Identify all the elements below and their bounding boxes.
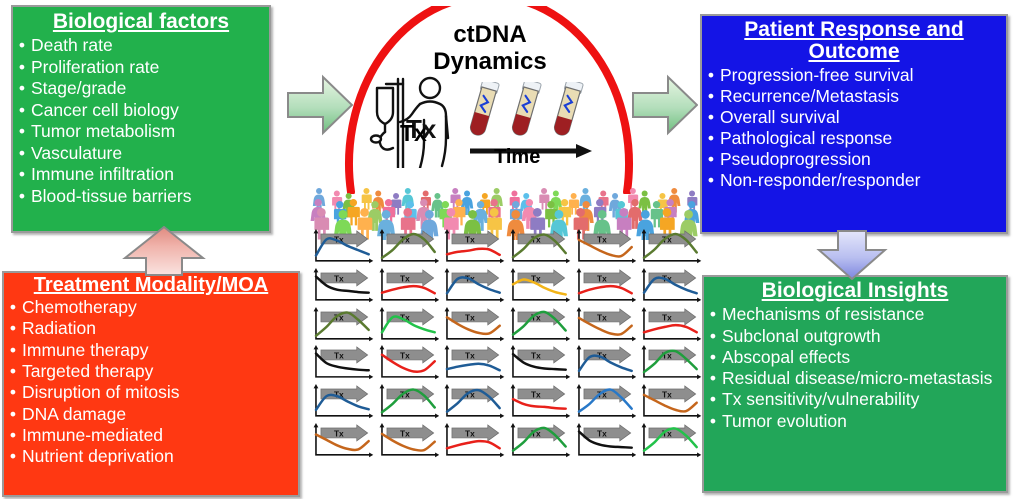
- arrow-down-icon: [816, 230, 888, 280]
- minichart-r1c4: Tx: [507, 228, 571, 266]
- tx-arrow-icon: [452, 231, 499, 247]
- bullet-icon: •: [704, 412, 722, 431]
- bullet-icon: •: [702, 171, 720, 190]
- tx-arrow-icon: [518, 347, 565, 363]
- person-icon: [628, 188, 638, 210]
- list-item: •Disruption of mitosis: [4, 383, 298, 402]
- list-item-label: Tx sensitivity/vulnerability: [722, 390, 1006, 409]
- list-item: •Blood-tissue barriers: [13, 187, 269, 206]
- tx-arrow-icon: [321, 425, 368, 441]
- minichart-r4c6: Tx: [638, 344, 702, 382]
- biological-insights-title: Biological Insights: [704, 277, 1006, 302]
- person-icon: [362, 188, 372, 210]
- ctdna-trajectory-grid: TxTxTxTxTxTxTxTxTxTxTxTxTxTxTxTxTxTxTxTx…: [310, 228, 702, 460]
- minichart-r3c3: Tx: [441, 306, 505, 344]
- tx-label: Tx: [400, 351, 410, 361]
- list-item: •Stage/grade: [13, 79, 269, 98]
- list-item: •Targeted therapy: [4, 362, 298, 381]
- tx-arrow-icon: [584, 309, 631, 325]
- minichart-r1c6: Tx: [638, 228, 702, 266]
- bullet-icon: •: [13, 122, 31, 141]
- tx-label: Tx: [597, 235, 607, 245]
- list-item: •Progression-free survival: [702, 66, 1006, 85]
- list-item-label: Cancer cell biology: [31, 101, 269, 120]
- treatment-modality-box: Treatment Modality/MOA •Chemotherapy •Ra…: [2, 271, 300, 497]
- list-item-label: Disruption of mitosis: [22, 383, 298, 402]
- list-item-label: Stage/grade: [31, 79, 269, 98]
- response-curve: [447, 249, 500, 255]
- list-item-label: Progression-free survival: [720, 66, 1006, 85]
- tx-label: Tx: [465, 429, 475, 439]
- minichart-r1c3: Tx: [441, 228, 505, 266]
- list-item: •DNA damage: [4, 405, 298, 424]
- bullet-icon: •: [702, 129, 720, 148]
- response-curve: [382, 286, 435, 293]
- minichart-r5c1: Tx: [310, 383, 374, 421]
- minichart-r6c2: Tx: [376, 422, 440, 460]
- list-item-label: Proliferation rate: [31, 58, 269, 77]
- minichart-r2c1: Tx: [310, 267, 374, 305]
- list-item-label: Non-responder/responder: [720, 171, 1006, 190]
- tx-arrow-icon: [518, 270, 565, 286]
- patient-response-title: Patient Response and Outcome: [702, 16, 1006, 64]
- tx-arrow-icon: [649, 386, 696, 402]
- tx-label: Tx: [531, 390, 541, 400]
- list-item: •Proliferation rate: [13, 58, 269, 77]
- list-item: •Pseudoprogression: [702, 150, 1006, 169]
- list-item: •Abscopal effects: [704, 348, 1006, 367]
- tx-arrow-icon: [387, 347, 434, 363]
- bullet-icon: •: [702, 87, 720, 106]
- response-curve: [579, 286, 632, 293]
- bullet-icon: •: [702, 66, 720, 85]
- list-item-label: Vasculature: [31, 144, 269, 163]
- minichart-r6c1: Tx: [310, 422, 374, 460]
- biological-factors-list: •Death rate •Proliferation rate •Stage/g…: [13, 36, 269, 205]
- list-item: •Chemotherapy: [4, 298, 298, 317]
- tx-arrow-icon: [584, 425, 631, 441]
- list-item-label: DNA damage: [22, 405, 298, 424]
- tx-arrow-icon: [452, 425, 499, 441]
- bullet-icon: •: [704, 369, 722, 388]
- list-item-label: Subclonal outgrowth: [722, 327, 1006, 346]
- list-item-label: Blood-tissue barriers: [31, 187, 269, 206]
- bullet-icon: •: [4, 362, 22, 381]
- list-item-label: Chemotherapy: [22, 298, 298, 317]
- list-item: •Nutrient deprivation: [4, 447, 298, 466]
- bullet-icon: •: [704, 327, 722, 346]
- blood-tube-icon: [552, 82, 584, 137]
- ctdna-dynamics-title: ctDNA Dynamics: [405, 22, 575, 76]
- minichart-r5c4: Tx: [507, 383, 571, 421]
- bullet-icon: •: [13, 79, 31, 98]
- minichart-r5c6: Tx: [638, 383, 702, 421]
- tx-label: Tx: [334, 351, 344, 361]
- list-item: •Death rate: [13, 36, 269, 55]
- tx-label: Tx: [400, 120, 427, 147]
- list-item-label: Pathological response: [720, 129, 1006, 148]
- bullet-icon: •: [4, 298, 22, 317]
- biological-factors-title: Biological factors: [13, 7, 269, 33]
- minichart-r1c5: Tx: [573, 228, 637, 266]
- list-item-label: Residual disease/micro-metastasis: [722, 369, 1006, 388]
- list-item: •Tx sensitivity/vulnerability: [704, 390, 1006, 409]
- list-item: •Immune infiltration: [13, 165, 269, 184]
- list-item-label: Abscopal effects: [722, 348, 1006, 367]
- list-item-label: Mechanisms of resistance: [722, 305, 1006, 324]
- bullet-icon: •: [13, 165, 31, 184]
- minichart-r4c3: Tx: [441, 344, 505, 382]
- response-curve: [513, 399, 566, 409]
- minichart-r3c4: Tx: [507, 306, 571, 344]
- minichart-r2c2: Tx: [376, 267, 440, 305]
- minichart-r3c5: Tx: [573, 306, 637, 344]
- arrow-right-icon-outflow: [632, 73, 698, 137]
- blood-tube-icons: [462, 82, 592, 144]
- bullet-icon: •: [704, 348, 722, 367]
- bullet-icon: •: [702, 150, 720, 169]
- biological-factors-box: Biological factors •Death rate •Prolifer…: [11, 5, 271, 233]
- arrow-up-icon: [122, 226, 206, 276]
- list-item: •Immune therapy: [4, 341, 298, 360]
- tx-arrow-icon: [452, 309, 499, 325]
- tx-arrow-icon: [387, 270, 434, 286]
- bullet-icon: •: [4, 405, 22, 424]
- list-item-label: Nutrient deprivation: [22, 447, 298, 466]
- minichart-r3c6: Tx: [638, 306, 702, 344]
- tx-label: Tx: [334, 273, 344, 283]
- list-item: •Cancer cell biology: [13, 101, 269, 120]
- list-item-label: Tumor metabolism: [31, 122, 269, 141]
- list-item: •Pathological response: [702, 129, 1006, 148]
- list-item-label: Immune therapy: [22, 341, 298, 360]
- list-item: •Recurrence/Metastasis: [702, 87, 1006, 106]
- tx-arrow-icon: [321, 270, 368, 286]
- tx-arrow-icon: [518, 386, 565, 402]
- tx-label: Tx: [465, 235, 475, 245]
- bullet-icon: •: [4, 383, 22, 402]
- minichart-r5c5: Tx: [573, 383, 637, 421]
- minichart-r4c2: Tx: [376, 344, 440, 382]
- time-axis-label: Time: [494, 146, 540, 169]
- list-item-label: Recurrence/Metastasis: [720, 87, 1006, 106]
- tx-label: Tx: [400, 429, 410, 439]
- tx-label: Tx: [597, 429, 607, 439]
- response-curve: [447, 364, 500, 371]
- biological-insights-box: Biological Insights •Mechanisms of resis…: [702, 275, 1008, 493]
- minichart-r3c1: Tx: [310, 306, 374, 344]
- list-item: •Immune-mediated: [4, 426, 298, 445]
- response-curve: [644, 325, 697, 332]
- minichart-r2c4: Tx: [507, 267, 571, 305]
- list-item-label: Overall survival: [720, 108, 1006, 127]
- list-item-label: Immune infiltration: [31, 165, 269, 184]
- list-item: •Tumor evolution: [704, 412, 1006, 431]
- response-curve: [447, 441, 500, 448]
- bullet-icon: •: [702, 108, 720, 127]
- minichart-r6c4: Tx: [507, 422, 571, 460]
- tx-arrow-icon: [321, 347, 368, 363]
- treatment-modality-title: Treatment Modality/MOA: [4, 273, 298, 296]
- list-item-label: Pseudoprogression: [720, 150, 1006, 169]
- bullet-icon: •: [704, 305, 722, 324]
- blood-tube-icon: [468, 82, 500, 137]
- bullet-icon: •: [4, 447, 22, 466]
- list-item-label: Immune-mediated: [22, 426, 298, 445]
- tx-label: Tx: [597, 273, 607, 283]
- list-item: •Radiation: [4, 319, 298, 338]
- list-item: •Tumor metabolism: [13, 122, 269, 141]
- minichart-r2c5: Tx: [573, 267, 637, 305]
- blood-tube-icon: [510, 82, 542, 137]
- minichart-r2c3: Tx: [441, 267, 505, 305]
- tx-label: Tx: [597, 312, 607, 322]
- list-item: •Overall survival: [702, 108, 1006, 127]
- list-item: •Non-responder/responder: [702, 171, 1006, 190]
- list-item: •Vasculature: [13, 144, 269, 163]
- list-item: •Mechanisms of resistance: [704, 305, 1006, 324]
- minichart-r6c5: Tx: [573, 422, 637, 460]
- list-item-label: Tumor evolution: [722, 412, 1006, 431]
- tx-arrow-icon: [584, 270, 631, 286]
- tx-label: Tx: [465, 351, 475, 361]
- list-item: •Residual disease/micro-metastasis: [704, 369, 1006, 388]
- bullet-icon: •: [13, 36, 31, 55]
- tx-label: Tx: [334, 429, 344, 439]
- minichart-r4c5: Tx: [573, 344, 637, 382]
- minichart-r5c3: Tx: [441, 383, 505, 421]
- tx-arrow-icon: [387, 231, 434, 247]
- minichart-r4c1: Tx: [310, 344, 374, 382]
- minichart-r6c6: Tx: [638, 422, 702, 460]
- bullet-icon: •: [4, 426, 22, 445]
- tx-arrow-icon: [387, 425, 434, 441]
- patient-response-list: •Progression-free survival •Recurrence/M…: [702, 66, 1006, 190]
- tx-label: Tx: [400, 273, 410, 283]
- minichart-r1c2: Tx: [376, 228, 440, 266]
- bullet-icon: •: [4, 341, 22, 360]
- minichart-r1c1: Tx: [310, 228, 374, 266]
- minichart-r2c6: Tx: [638, 267, 702, 305]
- bullet-icon: •: [13, 58, 31, 77]
- biological-insights-list: •Mechanisms of resistance •Subclonal out…: [704, 305, 1006, 430]
- minichart-r6c3: Tx: [441, 422, 505, 460]
- tx-label: Tx: [531, 351, 541, 361]
- tx-arrow-icon: [584, 231, 631, 247]
- bullet-icon: •: [704, 390, 722, 409]
- list-item: •Subclonal outgrowth: [704, 327, 1006, 346]
- bullet-icon: •: [13, 187, 31, 206]
- list-item-label: Death rate: [31, 36, 269, 55]
- tx-arrow-icon: [452, 347, 499, 363]
- patient-response-box: Patient Response and Outcome •Progressio…: [700, 14, 1008, 234]
- minichart-r3c2: Tx: [376, 306, 440, 344]
- minichart-r5c2: Tx: [376, 383, 440, 421]
- tx-arrow-icon: [649, 309, 696, 325]
- list-item-label: Targeted therapy: [22, 362, 298, 381]
- bullet-icon: •: [4, 319, 22, 338]
- list-item-label: Radiation: [22, 319, 298, 338]
- tx-label: Tx: [465, 312, 475, 322]
- tx-label: Tx: [662, 312, 672, 322]
- treatment-modality-list: •Chemotherapy •Radiation •Immune therapy…: [4, 298, 298, 466]
- bullet-icon: •: [13, 144, 31, 163]
- minichart-r4c4: Tx: [507, 344, 571, 382]
- tx-label: Tx: [662, 390, 672, 400]
- bullet-icon: •: [13, 101, 31, 120]
